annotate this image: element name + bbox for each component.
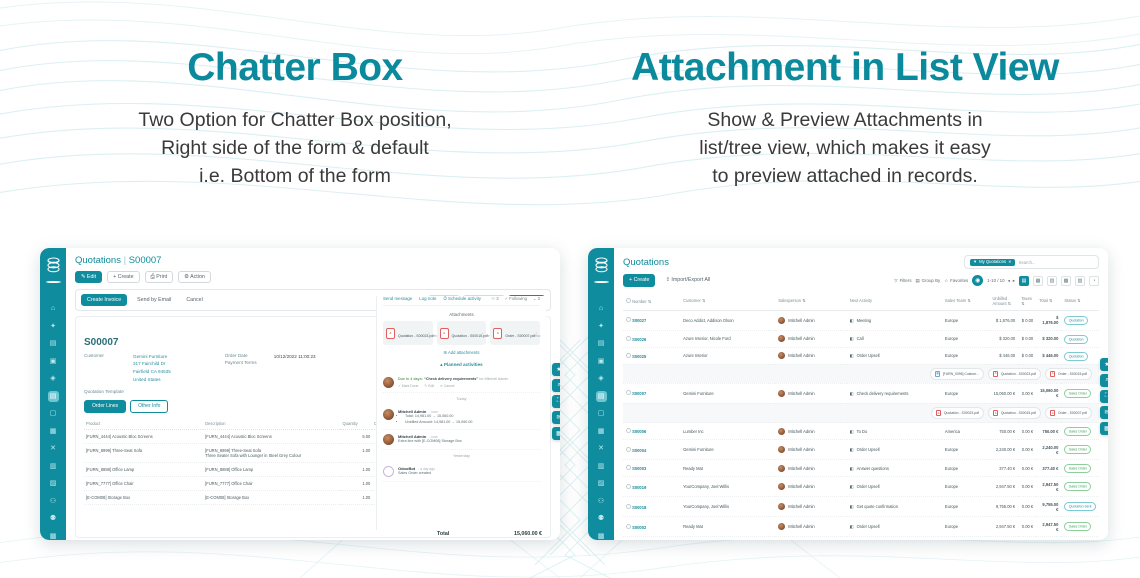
- table-row[interactable]: S00027Deco Addict, Addison OlsonMitchell…: [623, 310, 1099, 330]
- cell-salesperson: Mitchell Admin: [775, 330, 846, 347]
- list-view-body: Quotations ▼ My Quotations ✕ Search... +…: [614, 248, 1108, 540]
- record-count-icon[interactable]: ◉: [972, 275, 983, 286]
- list-attachment-name: [FURN_0096] Custom...: [943, 372, 979, 376]
- table-row[interactable]: S00006Lumber IncMitchell Admin◧To DoAmer…: [623, 423, 1099, 440]
- planned-activities-heading: ▴ Planned activities: [383, 362, 540, 368]
- line-quantity: 5.00: [340, 429, 372, 443]
- cell-unbilled: 377.40 €: [989, 460, 1018, 477]
- search-bar[interactable]: ▼ My Quotations ✕ Search...: [964, 255, 1099, 269]
- cell-sales-team: Europe: [942, 477, 990, 497]
- grand-total-value: 15,060.00 €: [514, 531, 542, 537]
- attachment-chip[interactable]: AQuotation - S00023.pdfPDF⤓: [383, 321, 433, 345]
- sidebar-icon-list[interactable]: ⌂ ✦ ▤ ▣ ◈ ▤ ▢ ▦ ✕ ▥ ▨ ⚇ ⚉ ▩ ⚙: [48, 303, 59, 540]
- sidebar-item-crm-2[interactable]: ◈: [596, 373, 607, 384]
- left-heading-block: Chatter Box Two Option for Chatter Box p…: [20, 48, 570, 191]
- activity-due: Due in 4 days:: [398, 377, 423, 381]
- chat-icon-2[interactable]: ✉: [1100, 406, 1108, 419]
- quotations-table: Number ⇅ Customer ⇅ Salesperson ⇅ Next A…: [623, 292, 1099, 540]
- cell-unbilled: $ 446.00: [989, 347, 1018, 364]
- cell-total: 2,240.00 €: [1036, 440, 1061, 460]
- cell-unbilled: 2,240.00 €: [989, 440, 1018, 460]
- cell-taxes: 0.00 €: [1018, 477, 1036, 497]
- cell-number[interactable]: S00025: [623, 347, 680, 364]
- search-icon[interactable]: ⌕: [552, 379, 560, 392]
- attachment-name: Order - S00007.pdf: [505, 334, 535, 338]
- salesperson-avatar: [778, 335, 785, 342]
- list-view-button[interactable]: ▤: [1019, 276, 1029, 286]
- sidebar-item-website-2[interactable]: ▩: [596, 531, 607, 541]
- cell-status: Quotation: [1061, 310, 1099, 330]
- pdf-file-icon: A: [1050, 410, 1056, 417]
- tab-order-lines[interactable]: Order Lines: [84, 400, 126, 413]
- col-quantity[interactable]: Quantity: [340, 418, 372, 430]
- cell-unbilled: 15,060.00 €: [989, 383, 1018, 403]
- line-description: [FURN_8999] Three-Seat Sofa Three Seater…: [203, 443, 340, 462]
- cell-number[interactable]: S00007: [623, 383, 680, 403]
- cell-number[interactable]: S00003: [623, 460, 680, 477]
- row-checkbox[interactable]: [626, 465, 631, 470]
- activity-item: Due in 4 days: “Check delivery requireme…: [383, 373, 540, 393]
- form-breadcrumb: Quotations | S00007: [66, 248, 560, 266]
- cell-taxes: 0.00 €: [1018, 497, 1036, 517]
- attachment-preview-row: ▣[FURN_0096] Custom...AQuotation - S0002…: [623, 364, 1099, 383]
- pdf-file-icon: A: [936, 410, 942, 417]
- customer-value[interactable]: Gemini Furniture 317 Fairchild Dr Fairfi…: [133, 353, 171, 384]
- cell-customer: YourCompany, Joel Willis: [680, 477, 775, 497]
- sidebar-item-purchase-2[interactable]: ▦: [596, 426, 607, 437]
- pivot-view-button[interactable]: ▩: [1061, 276, 1071, 286]
- payment-terms-field: Payment Terms: [225, 360, 316, 365]
- search-facet-my-quotations[interactable]: ▼ My Quotations ✕: [970, 259, 1015, 266]
- expand-icon[interactable]: ⛶: [552, 395, 560, 408]
- cell-next-activity: ◧Call: [847, 330, 942, 347]
- cancel-button[interactable]: Cancel: [181, 295, 208, 305]
- sidebar-item-calendar[interactable]: ▤: [48, 338, 59, 349]
- search-input[interactable]: Search...: [1019, 260, 1036, 265]
- line-quantity: 1.00: [340, 443, 372, 462]
- right-title: Attachment in List View: [570, 48, 1120, 89]
- salesperson-avatar: [778, 523, 785, 530]
- pdf-file-icon: A: [386, 328, 395, 339]
- sidebar-item-project[interactable]: ▨: [48, 478, 59, 489]
- cell-unbilled: $ 1,876.00: [989, 310, 1018, 330]
- message-list: Mitchell Admin- nowTotal: 14,981.00 → 15…: [383, 405, 540, 482]
- cell-next-activity: ◧Order Upsell: [847, 347, 942, 364]
- cell-number[interactable]: S00019: [623, 477, 680, 497]
- col-sales-team[interactable]: Sales Team ⇅: [942, 292, 990, 311]
- left-subtitle: Two Option for Chatter Box position, Rig…: [20, 106, 570, 191]
- activity-assignee: for Mitchell Admin: [479, 377, 508, 381]
- cell-total: 750.00 €: [1036, 423, 1061, 440]
- message-line: Unbilled Amount: 14,981.00 → 15,060.00: [405, 420, 472, 425]
- mark-done-link[interactable]: ✓ Mark Done: [398, 384, 418, 388]
- upsell-icon: ◧: [850, 524, 854, 529]
- schedule-activity-tab[interactable]: ⏱ Schedule activity: [443, 296, 481, 301]
- table-row[interactable]: S00026Azure Interior, Nicole FordMitchel…: [623, 330, 1099, 347]
- create-button-list[interactable]: + Create: [623, 274, 655, 286]
- col-salesperson[interactable]: Salesperson ⇅: [775, 292, 846, 311]
- graph-view-button[interactable]: ▨: [1075, 276, 1085, 286]
- sidebar-item-sales[interactable]: ▤: [48, 391, 59, 402]
- col-next-activity[interactable]: Next Activity: [847, 292, 942, 311]
- grand-total-label: Total: [437, 531, 449, 537]
- favorites-dropdown[interactable]: ☆ Favorites: [944, 278, 968, 284]
- cell-number[interactable]: S00018: [623, 497, 680, 517]
- cell-customer: Azure Interior: [680, 347, 775, 364]
- cell-next-activity: ◧Get quote confirmation: [847, 497, 942, 517]
- order-date-label: Order Date: [225, 353, 267, 361]
- salesperson-avatar: [778, 428, 785, 435]
- answer-icon: ◧: [850, 466, 854, 471]
- cell-status: Quotation: [1061, 330, 1099, 347]
- action-button[interactable]: ⚙ Action: [178, 271, 211, 283]
- col-customer[interactable]: Customer ⇅: [680, 292, 775, 311]
- footer-spacer: [623, 537, 989, 540]
- cell-salesperson: Mitchell Admin: [775, 383, 846, 403]
- list-control-panel: Quotations ▼ My Quotations ✕ Search...: [614, 248, 1108, 269]
- sidebar-item-dashboard[interactable]: ⌂: [48, 303, 59, 314]
- right-heading-block: Attachment in List View Show & Preview A…: [570, 48, 1120, 191]
- cell-number[interactable]: S00026: [623, 330, 680, 347]
- table-row[interactable]: S00004Gemini FurnitureMitchell Admin◧Ord…: [623, 440, 1099, 460]
- call-icon: ◧: [850, 336, 854, 341]
- log-note-tab[interactable]: Log note: [419, 296, 436, 301]
- salesperson-avatar: [778, 317, 785, 324]
- cell-number[interactable]: S00027: [623, 310, 680, 330]
- row-checkbox[interactable]: [626, 317, 631, 322]
- chatter-message: OdooBot- a day agoSales Order created: [383, 462, 540, 482]
- grid-icon[interactable]: ▦: [552, 427, 560, 440]
- sidebar-item-inventory[interactable]: ▢: [48, 408, 59, 419]
- expand-icon-2[interactable]: ⛶: [1100, 390, 1108, 403]
- edit-button[interactable]: ✎ Edit: [75, 271, 102, 283]
- chatter-message: Mitchell Admin- nowExtra line with [E-CO…: [383, 430, 540, 450]
- floating-toolbar-2[interactable]: ★ ⌕ ⛶ ✉ ▦: [1100, 358, 1108, 435]
- line-description: [FURN_7777] Office Chair: [203, 476, 340, 490]
- sidebar-item-recruitment-2[interactable]: ⚉: [596, 513, 607, 524]
- table-row[interactable]: S00018YourCompany, Joel WillisMitchell A…: [623, 497, 1099, 517]
- cell-next-activity: ◧Order Upsell: [847, 477, 942, 497]
- table-row[interactable]: S00007Gemini FurnitureMitchell Admin◧Che…: [623, 383, 1099, 403]
- cell-total: 377.40 €: [1036, 460, 1061, 477]
- cell-unbilled: $ 320.00: [989, 330, 1018, 347]
- pdf-file-icon: A: [993, 371, 999, 378]
- group-by-dropdown[interactable]: ▤ Group By: [916, 278, 941, 284]
- grid-icon-2[interactable]: ▦: [1100, 422, 1108, 435]
- cell-taxes: $ 0.00: [1018, 330, 1036, 347]
- table-row[interactable]: S00025Azure InteriorMitchell Admin◧Order…: [623, 347, 1099, 364]
- download-icon[interactable]: ⤓: [428, 331, 429, 335]
- cell-number[interactable]: S00002: [623, 517, 680, 537]
- attachments-heading: Attachments: [383, 312, 540, 317]
- col-number[interactable]: Number ⇅: [623, 292, 680, 311]
- col-description[interactable]: Description: [203, 418, 340, 430]
- cell-taxes: $ 0.00: [1018, 310, 1036, 330]
- sidebar-item-recruitment[interactable]: ⚉: [48, 513, 59, 524]
- star-icon-2[interactable]: ★: [1100, 358, 1108, 371]
- following-toggle[interactable]: ✓ Following: [505, 296, 527, 301]
- day-separator-today: Today: [383, 393, 540, 405]
- cell-unbilled: 2,947.50 €: [989, 517, 1018, 537]
- cell-status: Sales Order: [1061, 423, 1099, 440]
- line-quantity: 1.00: [340, 462, 372, 476]
- import-export-button[interactable]: ⇪ Import/Export All: [660, 275, 715, 285]
- cell-status: Sales Order: [1061, 440, 1099, 460]
- right-fields: Order Date 10/12/2022 11:00:23 Payment T…: [225, 353, 316, 384]
- table-row[interactable]: S00002Ready MatMitchell Admin◧Order Upse…: [623, 517, 1099, 537]
- cell-next-activity: ◧Check delivery requirements: [847, 383, 942, 403]
- cell-salesperson: Mitchell Admin: [775, 423, 846, 440]
- cell-taxes: $ 0.00: [1018, 347, 1036, 364]
- salesperson-avatar: [778, 446, 785, 453]
- cell-status: Sales Order: [1061, 460, 1099, 477]
- cell-salesperson: Mitchell Admin: [775, 310, 846, 330]
- footer-grand-total: 36,771.80: [1036, 537, 1061, 540]
- list-attachment-name: Order - S00007.pdf: [1058, 411, 1087, 415]
- kanban-view-button[interactable]: ▦: [1033, 276, 1043, 286]
- list-attachment-chip[interactable]: AQuotation - S00023.pdf: [988, 368, 1041, 380]
- cell-number[interactable]: S00004: [623, 440, 680, 460]
- sidebar-item-purchase[interactable]: ▦: [48, 426, 59, 437]
- attachment-chips-cell: AQuotation - S00023.pdfAQuotation - S000…: [623, 403, 1099, 422]
- sidebar-item-accounting[interactable]: ▥: [48, 461, 59, 472]
- form-view-body: Quotations | S00007 ✎ Edit + Create ⎙ Pr…: [66, 248, 560, 540]
- sidebar-item-manufacturing[interactable]: ✕: [48, 443, 59, 454]
- breadcrumb-separator: |: [124, 255, 126, 266]
- cell-number[interactable]: S00006: [623, 423, 680, 440]
- cell-sales-team: Europe: [942, 347, 990, 364]
- cell-total: 15,060.00 €: [1036, 383, 1061, 403]
- activity-view-button[interactable]: ◔: [1089, 276, 1099, 286]
- pdf-file-icon: A: [440, 328, 449, 339]
- message-avatar: [383, 434, 394, 445]
- list-toolbar: + Create ⇪ Import/Export All ▽ Filters ▤…: [614, 269, 1108, 286]
- followers-count[interactable]: ⚇ 3: [491, 296, 498, 301]
- line-product: [FURN_8999] Three-Seat Sofa: [84, 443, 203, 462]
- footer-unbilled-total: 36,771.80: [989, 537, 1018, 540]
- list-attachment-name: Quotation - S00023.pdf: [944, 411, 979, 415]
- cell-sales-team: Europe: [942, 517, 990, 537]
- upsell-icon: ◧: [850, 447, 854, 452]
- line-product: [FURN_7777] Office Chair: [84, 476, 203, 490]
- row-checkbox[interactable]: [626, 447, 631, 452]
- app-sidebar-2[interactable]: ⌂ ✦ ▤ ▣ ◈ ▤ ▢ ▦ ✕ ▥ ▨ ⚇ ⚉ ▩ ⚙: [588, 248, 614, 540]
- attachment-preview-row: AQuotation - S00023.pdfAQuotation - S000…: [623, 403, 1099, 422]
- line-description: [E-COM08] Storage Box: [203, 490, 340, 504]
- sidebar-item-marketing-2[interactable]: ✦: [596, 321, 607, 332]
- cell-salesperson: Mitchell Admin: [775, 460, 846, 477]
- sidebar-item-project-2[interactable]: ▨: [596, 478, 607, 489]
- cell-status: Quotation: [1061, 347, 1099, 364]
- sidebar-item-dashboard-2[interactable]: ⌂: [596, 303, 607, 314]
- chatter-panel: Send message Log note ⏱ Schedule activit…: [376, 296, 546, 530]
- send-by-email-button[interactable]: Send by Email: [132, 295, 176, 305]
- footer-status-spacer: [1061, 537, 1099, 540]
- cell-customer: Gemini Furniture: [680, 440, 775, 460]
- sidebar-item-sales-2[interactable]: ▤: [596, 391, 607, 402]
- sidebar-item-inventory-2[interactable]: ▢: [596, 408, 607, 419]
- activity-summary: Due in 4 days: “Check delivery requireme…: [398, 377, 508, 382]
- row-checkbox[interactable]: [626, 484, 631, 489]
- cell-customer: YourCompany, Joel Willis: [680, 497, 775, 517]
- list-attachment-chip[interactable]: AOrder - S00007.pdf: [1045, 407, 1092, 419]
- edit-activity-link[interactable]: ✎ Edit: [424, 384, 434, 388]
- row-checkbox[interactable]: [626, 428, 631, 433]
- cell-total: 2,947.50 €: [1036, 477, 1061, 497]
- table-row[interactable]: S00003Ready MatMitchell Admin◧Answer que…: [623, 460, 1099, 477]
- chat-icon[interactable]: ✉: [552, 411, 560, 424]
- user-avatar-2[interactable]: [594, 281, 609, 283]
- cell-customer: Ready Mat: [680, 517, 775, 537]
- list-attachment-chip[interactable]: AQuotation - S00015.pdf: [988, 407, 1041, 419]
- message-line: Sales Order created: [398, 471, 435, 476]
- tab-other-info[interactable]: Other Info: [130, 400, 168, 413]
- row-checkbox[interactable]: [626, 336, 631, 341]
- attachment-chip-list: AQuotation - S00023.pdfPDF⤓AQuotation - …: [383, 321, 540, 345]
- create-invoice-button[interactable]: Create Invoice: [81, 294, 127, 306]
- cell-sales-team: Europe: [942, 383, 990, 403]
- row-checkbox[interactable]: [626, 524, 631, 529]
- calendar-view-button[interactable]: ▥: [1047, 276, 1057, 286]
- quotations-table-body: S00027Deco Addict, Addison OlsonMitchell…: [623, 310, 1099, 536]
- print-button[interactable]: ⎙ Print: [145, 271, 174, 283]
- cell-customer: Gemini Furniture: [680, 383, 775, 403]
- sidebar-item-manufacturing-2[interactable]: ✕: [596, 443, 607, 454]
- pager-prev[interactable]: ◂: [1008, 278, 1010, 284]
- sidebar-icon-list-2[interactable]: ⌂ ✦ ▤ ▣ ◈ ▤ ▢ ▦ ✕ ▥ ▨ ⚇ ⚉ ▩ ⚙: [596, 303, 607, 540]
- list-breadcrumb: Quotations: [623, 257, 669, 268]
- salesperson-avatar: [778, 503, 785, 510]
- quote-icon: ◧: [850, 504, 854, 509]
- sidebar-item-marketing[interactable]: ✦: [48, 321, 59, 332]
- sidebar-item-employees-2[interactable]: ⚇: [596, 496, 607, 507]
- cell-customer: Deco Addict, Addison Olson: [680, 310, 775, 330]
- salesperson-avatar: [778, 483, 785, 490]
- cell-status: Sales Order: [1061, 477, 1099, 497]
- app-sidebar[interactable]: ⌂ ✦ ▤ ▣ ◈ ▤ ▢ ▦ ✕ ▥ ▨ ⚇ ⚉ ▩ ⚙: [40, 248, 66, 540]
- download-icon[interactable]: ⤓: [536, 331, 537, 335]
- cell-sales-team: Europe: [942, 440, 990, 460]
- floating-toolbar[interactable]: ★ ⌕ ⛶ ✉ ▦: [552, 363, 560, 440]
- list-attachment-chip[interactable]: ▣[FURN_0096] Custom...: [930, 368, 984, 380]
- cell-total: 9,755.00 €: [1036, 497, 1061, 517]
- cell-taxes: 0.00 €: [1018, 460, 1036, 477]
- cell-taxes: 0.00 €: [1018, 517, 1036, 537]
- cancel-activity-link[interactable]: ✕ Cancel: [440, 384, 454, 388]
- list-attachment-chip[interactable]: AOrder - S00015.pdf: [1045, 368, 1092, 380]
- right-subtitle: Show & Preview Attachments in list/tree …: [570, 106, 1120, 191]
- col-product[interactable]: Product: [84, 418, 203, 430]
- cell-next-activity: ◧Answer questions: [847, 460, 942, 477]
- cell-sales-team: Europe: [942, 310, 990, 330]
- col-status[interactable]: Status ⇅: [1061, 292, 1099, 311]
- pager[interactable]: 1-10 / 10 ◂ ▸: [987, 278, 1015, 284]
- activity-actions: ✓ Mark Done ✎ Edit ✕ Cancel: [398, 384, 508, 388]
- search-icon-2[interactable]: ⌕: [1100, 374, 1108, 387]
- cell-sales-team: Europe: [942, 330, 990, 347]
- attachment-chip[interactable]: AOrder - S00007.pdfPDF⤓: [490, 321, 540, 345]
- select-all-checkbox[interactable]: [626, 298, 631, 303]
- add-attachments-link[interactable]: ⊞ Add attachments: [383, 350, 540, 355]
- followers-expand-icon[interactable]: ⌄ 3: [533, 296, 540, 301]
- line-product: [E-COM08] Storage Box: [84, 490, 203, 504]
- list-table-wrap: Number ⇅ Customer ⇅ Salesperson ⇅ Next A…: [623, 292, 1099, 540]
- salesperson-avatar: [778, 352, 785, 359]
- row-checkbox[interactable]: [626, 390, 631, 395]
- sidebar-item-contacts[interactable]: ▣: [48, 356, 59, 367]
- sidebar-item-website[interactable]: ▩: [48, 531, 59, 541]
- list-view-controls: ▽ Filters ▤ Group By ☆ Favorites ◉ 1-10 …: [894, 275, 1099, 286]
- cell-unbilled: 9,755.00 €: [989, 497, 1018, 517]
- cell-unbilled: 750.00 €: [989, 423, 1018, 440]
- filters-dropdown[interactable]: ▽ Filters: [894, 278, 911, 284]
- cell-next-activity: ◧To Do: [847, 423, 942, 440]
- left-title: Chatter Box: [20, 48, 570, 89]
- pager-next[interactable]: ▸: [1013, 278, 1015, 284]
- cell-customer: Lumber Inc: [680, 423, 775, 440]
- col-unbilled-amount[interactable]: Unbilled Amount ⇅: [989, 292, 1018, 311]
- breadcrumb-model[interactable]: Quotations: [75, 255, 121, 266]
- cell-total: 2,947.50 €: [1036, 517, 1061, 537]
- download-icon[interactable]: ⤓: [482, 331, 483, 335]
- chatter-tabs: Send message Log note ⏱ Schedule activit…: [383, 296, 540, 306]
- line-product: [FURN_8888] Office Lamp: [84, 462, 203, 476]
- cell-total: $ 1,876.00: [1036, 310, 1061, 330]
- cell-salesperson: Mitchell Admin: [775, 517, 846, 537]
- list-attachment-name: Quotation - S00023.pdf: [1001, 372, 1036, 376]
- message-line: Extra line with [E-COM08] Storage Box: [398, 439, 462, 444]
- order-date-value[interactable]: 10/12/2022 11:00:23: [274, 353, 316, 361]
- line-quantity: 1.00: [340, 490, 372, 504]
- sidebar-item-crm[interactable]: ◈: [48, 373, 59, 384]
- create-button[interactable]: + Create: [107, 271, 139, 283]
- message-avatar: [383, 409, 394, 420]
- col-taxes-list[interactable]: Taxes ⇅: [1018, 292, 1036, 311]
- order-date-field: Order Date 10/12/2022 11:00:23: [225, 353, 316, 361]
- message-avatar: [383, 466, 394, 477]
- image-file-icon: ▣: [935, 371, 941, 378]
- col-total[interactable]: Total ⇅: [1036, 292, 1061, 311]
- user-avatar[interactable]: [46, 281, 61, 283]
- customer-label: Customer: [84, 353, 126, 384]
- cell-sales-team: Europe: [942, 460, 990, 477]
- meeting-icon: ◧: [850, 318, 854, 323]
- list-attachment-chip[interactable]: AQuotation - S00023.pdf: [931, 407, 984, 419]
- sidebar-item-calendar-2[interactable]: ▤: [596, 338, 607, 349]
- cell-next-activity: ◧Order Upsell: [847, 517, 942, 537]
- cell-salesperson: Mitchell Admin: [775, 440, 846, 460]
- odoo-logo-icon-2: [592, 255, 611, 274]
- sidebar-item-employees[interactable]: ⚇: [48, 496, 59, 507]
- row-checkbox[interactable]: [626, 353, 631, 358]
- cell-sales-team: America: [942, 423, 990, 440]
- upsell-icon: ◧: [850, 353, 854, 358]
- table-row[interactable]: S00019YourCompany, Joel WillisMitchell A…: [623, 477, 1099, 497]
- line-quantity: 1.00: [340, 476, 372, 490]
- cell-status: Sales Order: [1061, 383, 1099, 403]
- pdf-file-icon: A: [1050, 371, 1056, 378]
- row-checkbox[interactable]: [626, 504, 631, 509]
- list-attachment-name: Quotation - S00015.pdf: [1001, 411, 1036, 415]
- sidebar-item-contacts-2[interactable]: ▣: [596, 356, 607, 367]
- star-icon[interactable]: ★: [552, 363, 560, 376]
- attachment-chip[interactable]: AQuotation - S00015.pdfPDF⤓: [437, 321, 487, 345]
- sidebar-item-accounting-2[interactable]: ▥: [596, 461, 607, 472]
- cell-unbilled: 2,947.50 €: [989, 477, 1018, 497]
- cell-taxes: 0.00 €: [1018, 423, 1036, 440]
- send-message-tab[interactable]: Send message: [383, 296, 412, 301]
- cell-salesperson: Mitchell Admin: [775, 497, 846, 517]
